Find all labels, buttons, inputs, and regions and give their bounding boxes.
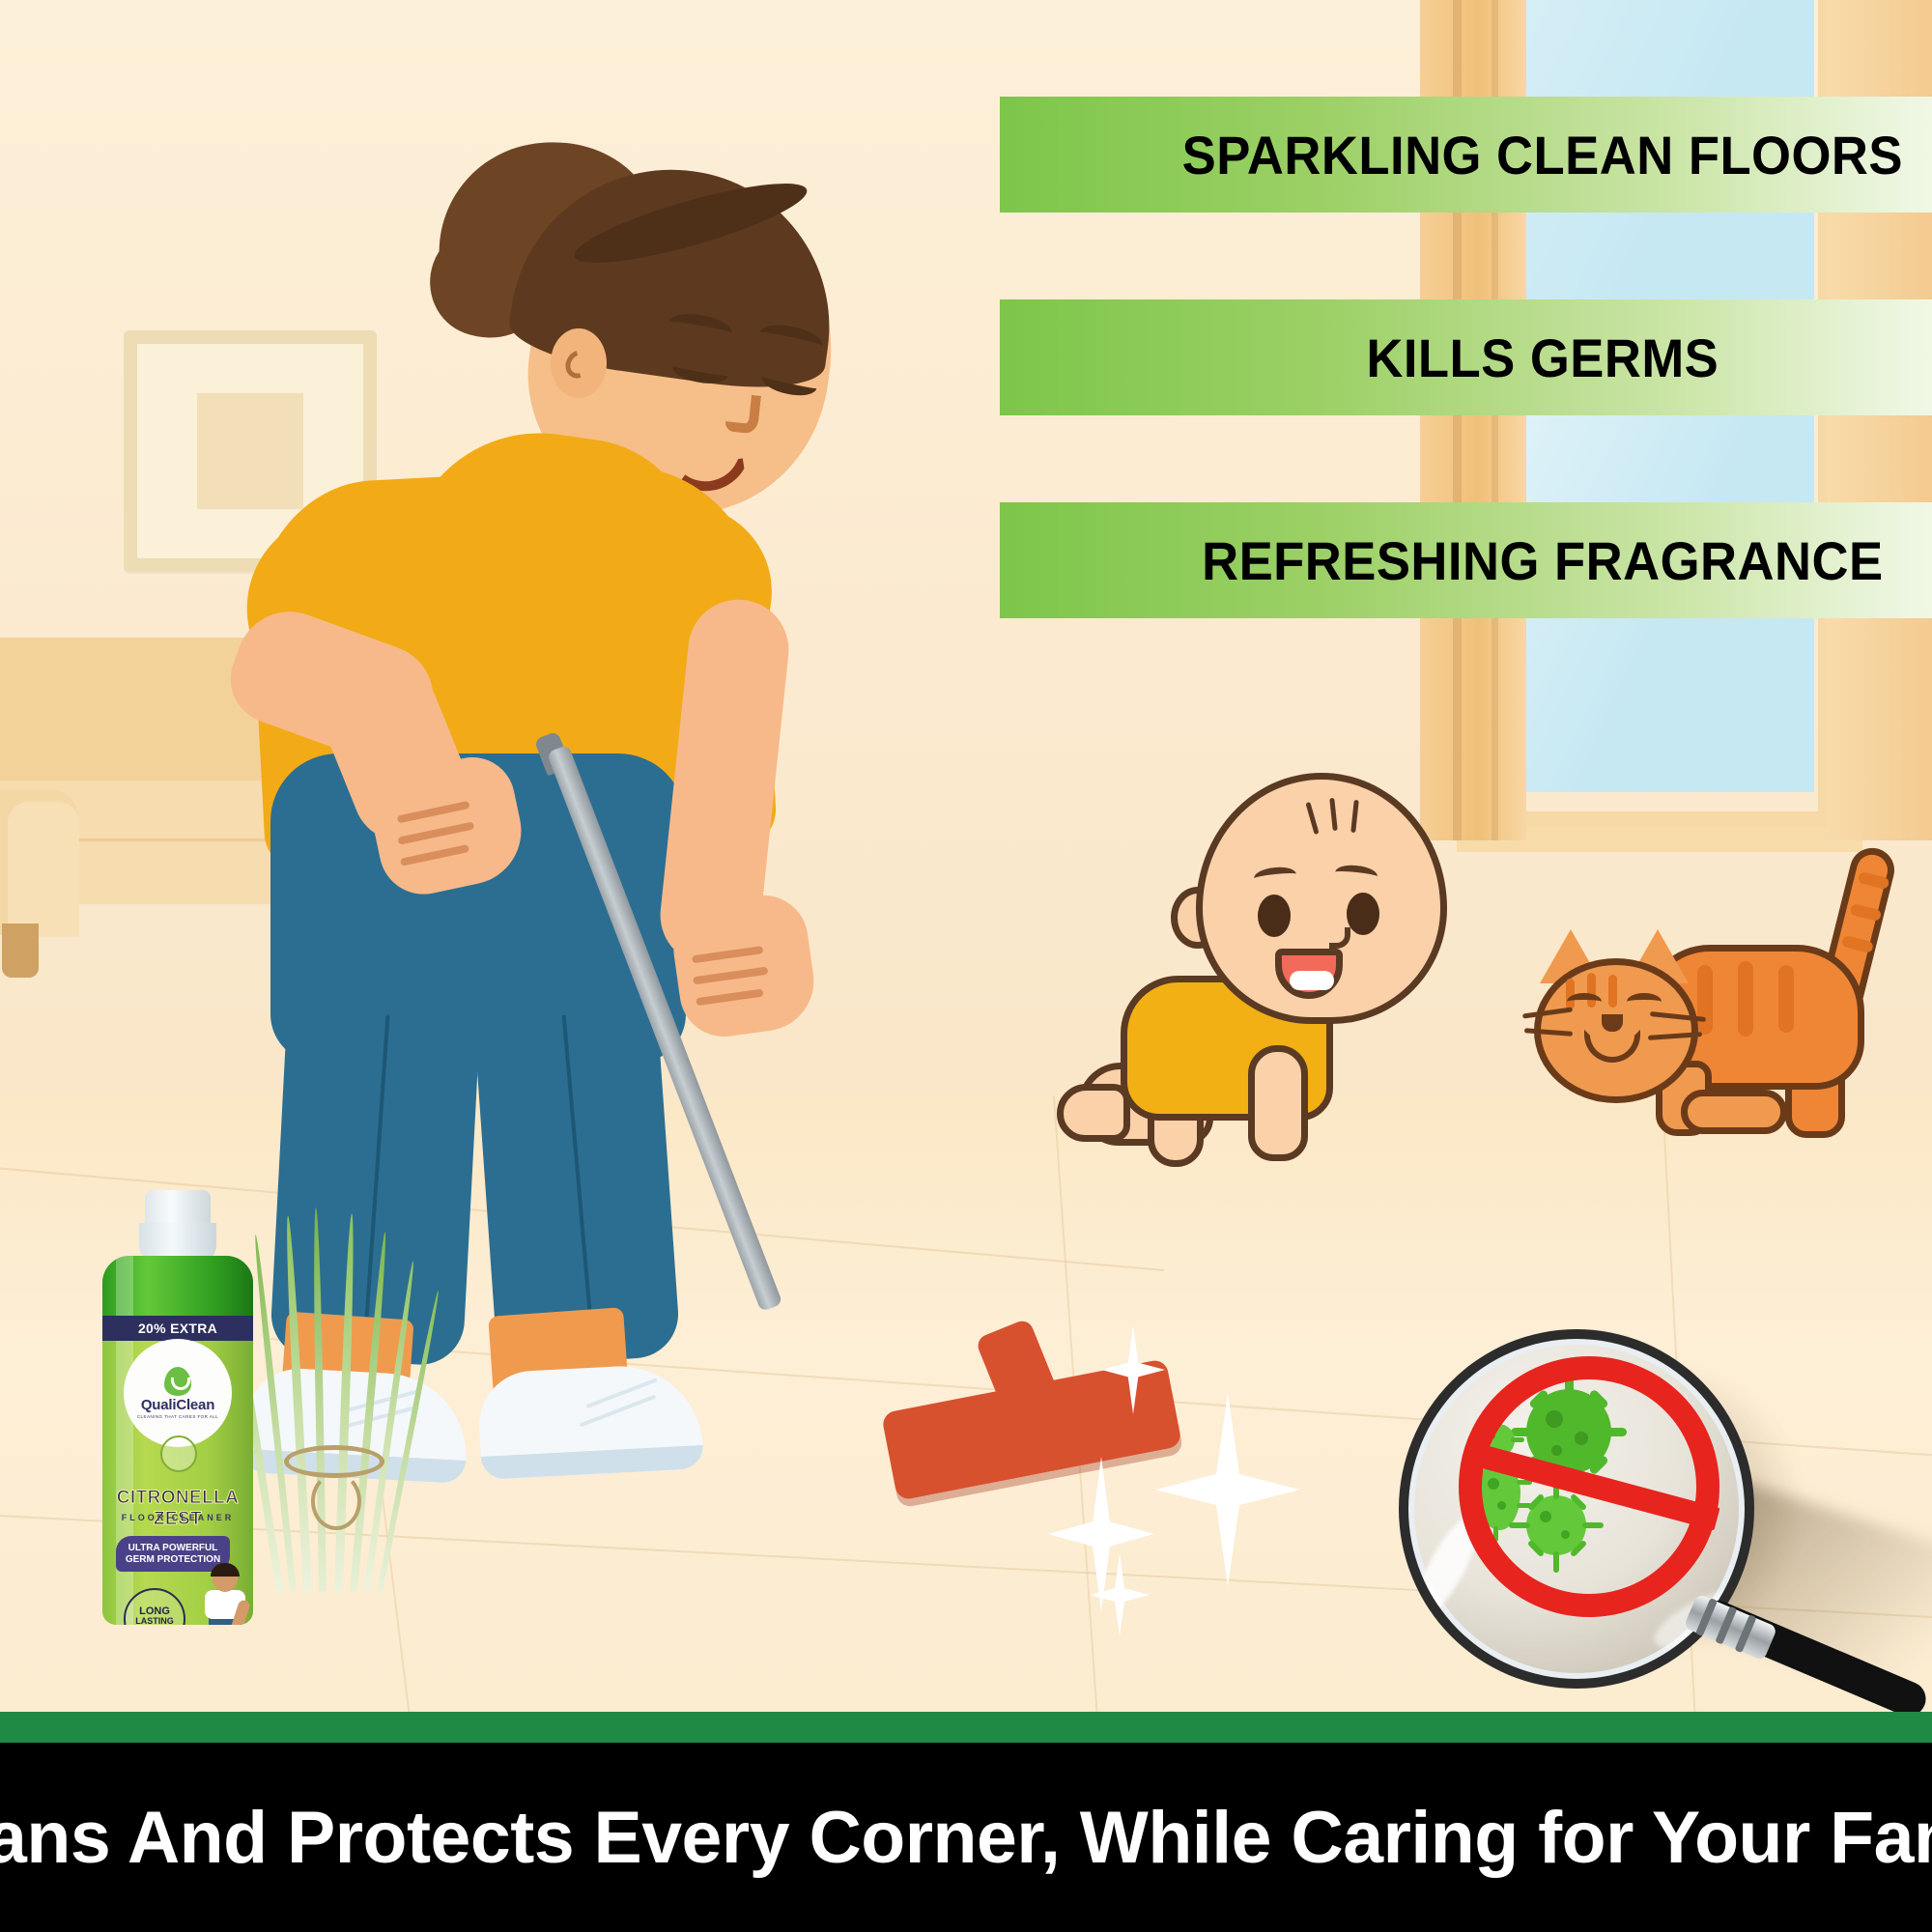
brand-tagline: CLEANING THAT CARES FOR ALL [137,1414,218,1419]
brand-name: QualiClean [141,1398,214,1412]
magnifier-germ-graphic [1391,1285,1932,1719]
lemongrass-bundle [267,1206,402,1592]
feature-banner-kills-germs: KILLS GERMS [1000,299,1932,415]
baby-hair [1306,796,1374,831]
feature-banner-refreshing-fragrance: REFRESHING FRAGRANCE [1000,502,1932,618]
bottle-label: 20% EXTRA QualiClean CLEANING THAT CARES… [102,1256,253,1625]
feature-banner-sparkling-clean-floors: SPARKLING CLEAN FLOORS [1000,97,1932,213]
badge-line-2: LASTING [135,1617,174,1625]
leaf-drop-icon [164,1367,191,1396]
footer-tagline: “Cleans And Protects Every Corner, While… [10,1743,1922,1932]
product-bottle: 20% EXTRA QualiClean CLEANING THAT CARES… [95,1190,261,1625]
citronella-grass-icon [160,1435,197,1472]
feature-banner-label: REFRESHING FRAGRANCE [1034,529,1932,592]
sparkle-icon [1090,1553,1150,1636]
sparkle-icon [1101,1325,1165,1414]
claim-line-1: ULTRA POWERFUL [120,1543,226,1554]
feature-banner-label: SPARKLING CLEAN FLOORS [1034,124,1932,186]
product-type: FLOOR CLEANER [102,1513,253,1522]
sparkle-icon [1155,1393,1300,1586]
brand-logo-badge: QualiClean CLEANING THAT CARES FOR ALL [124,1339,232,1447]
woman-shoe-right [476,1362,703,1480]
promo-strip-label: 20% EXTRA [138,1321,217,1336]
baby-illustration [1092,773,1478,1140]
cat-illustration [1526,869,1903,1150]
cleaner-mascot-illustration [195,1563,253,1625]
footer-green-bar [0,1712,1932,1743]
product-name: CITRONELLA ZEST [102,1488,253,1530]
promo-strip: 20% EXTRA [102,1316,253,1341]
woman-hand-lower [668,890,820,1042]
advertisement-canvas: SPARKLING CLEAN FLOORS KILLS GERMS REFRE… [0,0,1932,1932]
feature-banner-label: KILLS GERMS [1034,327,1932,389]
